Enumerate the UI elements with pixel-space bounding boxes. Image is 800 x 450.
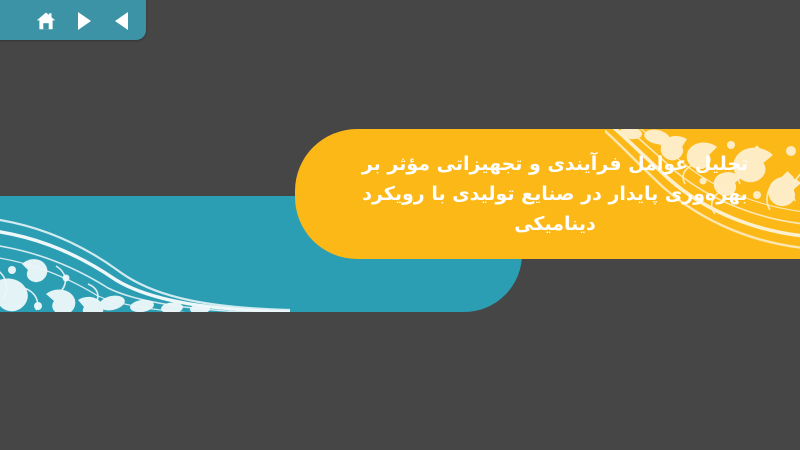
slide-canvas: تحلیل عوامل فرآیندی و تجهیزاتی مؤثر بر ب… [0, 0, 800, 450]
yellow-title-panel: تحلیل عوامل فرآیندی و تجهیزاتی مؤثر بر ب… [295, 129, 800, 259]
triangle-left-icon [113, 11, 131, 31]
back-button[interactable] [110, 8, 134, 34]
home-button[interactable] [34, 8, 58, 34]
navigation-bar [0, 0, 146, 40]
title-line-1: تحلیل عوامل فرآیندی و تجهیزاتی مؤثر بر [362, 149, 748, 179]
forward-button[interactable] [72, 8, 96, 34]
title-line-3: دینامیکی [514, 209, 596, 239]
triangle-right-icon [75, 11, 93, 31]
title-line-2: بهره‌وری پایدار در صنایع تولیدی با رویکر… [362, 179, 748, 209]
slide-title: تحلیل عوامل فرآیندی و تجهیزاتی مؤثر بر ب… [295, 129, 800, 259]
home-icon [35, 10, 57, 32]
teal-arabesque-ornament [0, 202, 290, 312]
